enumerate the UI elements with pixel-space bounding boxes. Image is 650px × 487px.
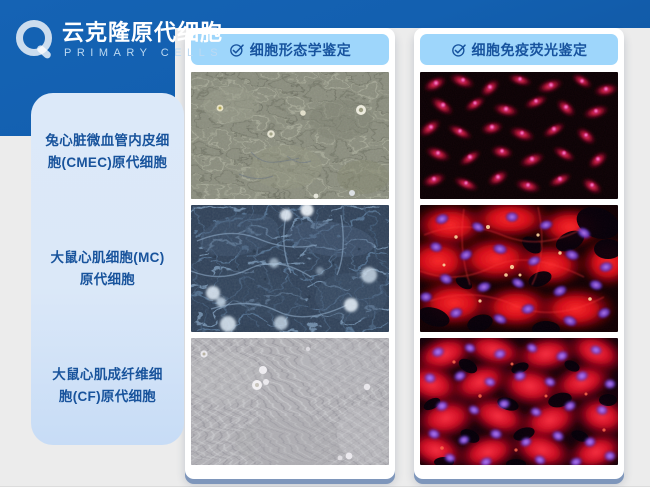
column-header-morphology-label: 细胞形态学鉴定 [250, 40, 352, 60]
sidebar-item-cf-line2: 胞(CF)原代细胞 [52, 386, 162, 408]
cell-image-mc-fluorescence [420, 205, 618, 332]
cell-image-cf-fluorescence [420, 338, 618, 465]
columns-container: 细胞形态学鉴定 [185, 28, 624, 479]
sidebar-item-mc-line1: 大鼠心肌细胞(MC) [51, 247, 165, 269]
cell-image-cmec-fluorescence [420, 72, 618, 199]
sidebar-item-cmec[interactable]: 兔心脏微血管内皮细 胞(CMEC)原代细胞 [31, 93, 184, 210]
cell-image-mc-morphology [191, 205, 389, 332]
sidebar-item-cf[interactable]: 大鼠心肌成纤维细 胞(CF)原代细胞 [31, 328, 184, 445]
brand-name-cn: 云克隆原代细胞 [62, 20, 223, 46]
brand-text: 云克隆原代细胞 PRIMARY CELLS [62, 20, 223, 61]
column-header-immunofluorescence[interactable]: 细胞免疫荧光鉴定 [420, 34, 618, 65]
sidebar-item-mc[interactable]: 大鼠心肌细胞(MC) 原代细胞 [31, 210, 184, 327]
cell-image-cmec-morphology [191, 72, 389, 199]
sidebar-item-cmec-line1: 兔心脏微血管内皮细 [45, 130, 169, 152]
check-circle-icon [451, 42, 467, 58]
brand: 云克隆原代细胞 PRIMARY CELLS [14, 18, 223, 62]
check-circle-icon [229, 42, 245, 58]
poster-root: 云克隆原代细胞 PRIMARY CELLS 兔心脏微血管内皮细 胞(CMEC)原… [0, 0, 650, 487]
sidebar-item-mc-line2: 原代细胞 [51, 269, 165, 291]
cell-image-cf-morphology [191, 338, 389, 465]
cell-type-sidebar: 兔心脏微血管内皮细 胞(CMEC)原代细胞 大鼠心肌细胞(MC) 原代细胞 大鼠… [31, 93, 184, 445]
sidebar-item-cf-line1: 大鼠心肌成纤维细 [52, 364, 162, 386]
column-header-immunofluorescence-label: 细胞免疫荧光鉴定 [472, 40, 588, 60]
column-card-morphology: 细胞形态学鉴定 [185, 28, 395, 479]
sidebar-item-cmec-line2: 胞(CMEC)原代细胞 [45, 152, 169, 174]
brand-name-en: PRIMARY CELLS [62, 46, 223, 61]
column-card-immunofluorescence: 细胞免疫荧光鉴定 [414, 28, 624, 479]
circle-q-logo-icon [14, 18, 58, 62]
